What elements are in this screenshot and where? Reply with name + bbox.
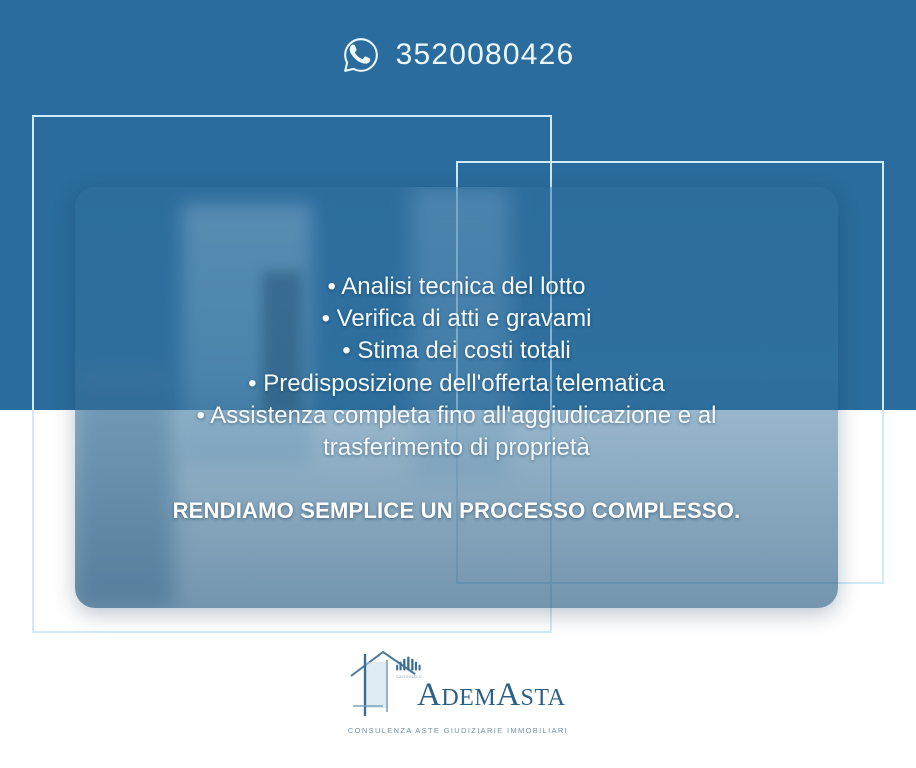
poster-canvas: 3520080426 Analisi tecnica del lotto Ver… bbox=[0, 0, 916, 768]
photo-card: Analisi tecnica del lotto Verifica di at… bbox=[75, 187, 838, 608]
logo-letter-a1: A bbox=[417, 677, 441, 713]
brand-logo: CARDINALE ADEMASTA CONSULENZA ASTE GIUDI… bbox=[0, 648, 916, 735]
logo-letters-dem: DEM bbox=[441, 685, 496, 711]
whatsapp-icon[interactable] bbox=[342, 36, 380, 74]
tagline-text: RENDIAMO SEMPLICE UN PROCESSO COMPLESSO. bbox=[173, 498, 741, 524]
phone-number[interactable]: 3520080426 bbox=[396, 40, 575, 70]
list-item: Stima dei costi totali bbox=[147, 335, 767, 367]
logo-letter-a2: A bbox=[496, 677, 520, 713]
list-item: Verifica di atti e gravami bbox=[147, 303, 767, 335]
logo-letters-sta: STA bbox=[521, 685, 566, 711]
card-content: Analisi tecnica del lotto Verifica di at… bbox=[75, 187, 838, 608]
list-item: Assistenza completa fino all'aggiudicazi… bbox=[147, 400, 767, 464]
contact-header: 3520080426 bbox=[0, 36, 916, 74]
logo-subtitle: CONSULENZA ASTE GIUDIZIARIE IMMOBILIARI bbox=[348, 726, 568, 735]
list-item: Analisi tecnica del lotto bbox=[147, 271, 767, 303]
logo-lockup: CARDINALE ADEMASTA bbox=[343, 648, 573, 720]
logo-wordmark: ADEMASTA bbox=[417, 677, 565, 714]
service-bullet-list: Analisi tecnica del lotto Verifica di at… bbox=[147, 271, 767, 464]
list-item: Predisposizione dell'offerta telematica bbox=[147, 368, 767, 400]
